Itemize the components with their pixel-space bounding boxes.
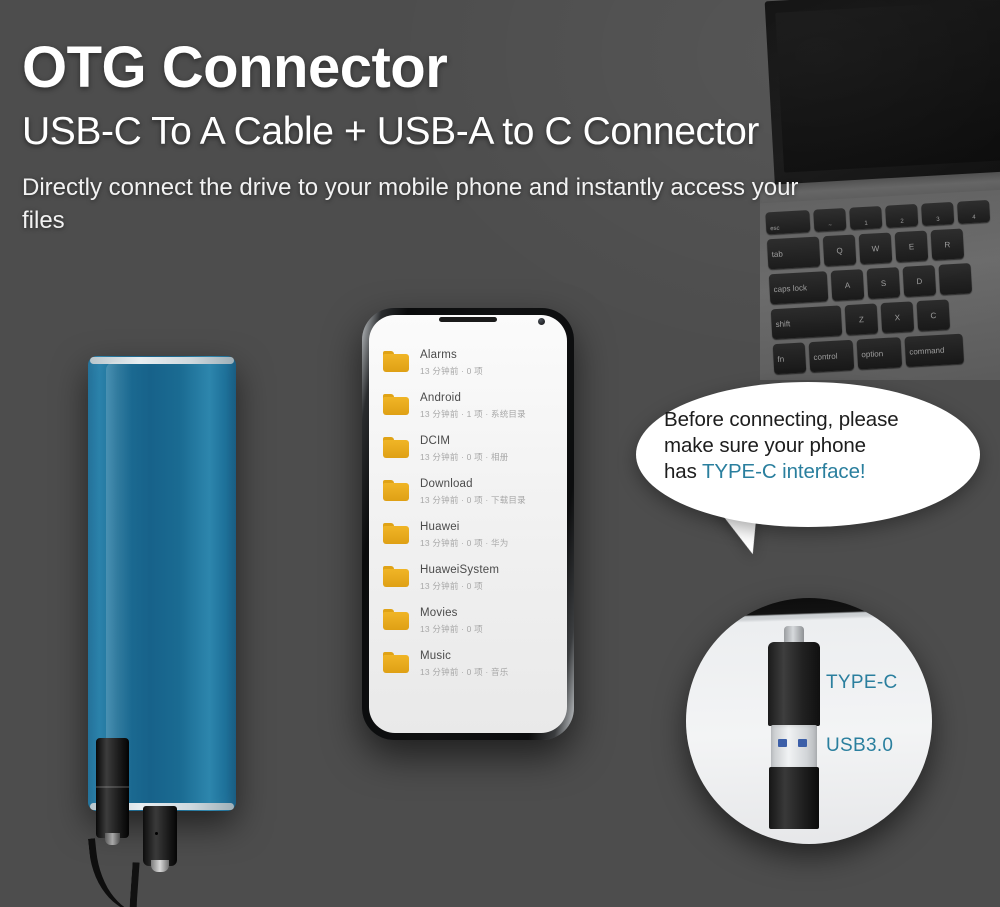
file-meta: 13 分钟前 · 0 项 [420, 580, 499, 592]
phone-screen: Alarms 13 分钟前 · 0 项 Android 13 分钟前 · 1 项… [369, 315, 567, 733]
speech-bubble-body: Before connecting, please make sure your… [636, 382, 980, 527]
bubble-line-1: Before connecting, please [664, 408, 899, 431]
file-meta: 13 分钟前 · 1 项 · 系统目录 [420, 408, 526, 420]
usb-pin [798, 739, 807, 747]
android-smartphone: Alarms 13 分钟前 · 0 项 Android 13 分钟前 · 1 项… [362, 308, 574, 740]
folder-icon [383, 609, 409, 630]
file-meta: 13 分钟前 · 0 项 [420, 623, 483, 635]
bubble-line-2: make sure your phone [664, 434, 866, 457]
key-d: D [903, 265, 937, 297]
adapter-seam [96, 786, 129, 788]
file-name: Movies [420, 606, 483, 620]
earpiece-speaker [439, 317, 497, 322]
page-title: OTG Connector [22, 38, 972, 99]
bubble-line-3-accent: TYPE-C interface! [702, 460, 866, 483]
front-camera-icon [538, 318, 545, 325]
key-w: W [859, 232, 893, 264]
ssd-plug-indicator-dot [155, 832, 158, 835]
product-marketing-image: esc ~ 1 2 3 4 tab Q W E R caps lock A S … [0, 0, 1000, 907]
adapter-lower-body [769, 767, 819, 829]
list-item[interactable]: HuaweiSystem 13 分钟前 · 0 项 [369, 562, 567, 605]
key-s: S [867, 267, 901, 299]
key-tab: tab [767, 237, 821, 270]
list-item[interactable]: Music 13 分钟前 · 0 项 · 音乐 [369, 648, 567, 691]
key-fn: fn [773, 342, 807, 374]
key-z: Z [845, 303, 879, 335]
key-f [939, 263, 973, 295]
key-c: C [917, 299, 951, 331]
file-name: Music [420, 649, 508, 663]
file-meta: 13 分钟前 · 0 项 · 音乐 [420, 666, 508, 678]
file-name: DCIM [420, 434, 508, 448]
file-meta: 13 分钟前 · 0 项 · 华为 [420, 537, 508, 549]
file-name: Download [420, 477, 526, 491]
list-item[interactable]: Android 13 分钟前 · 1 项 · 系统目录 [369, 390, 567, 433]
key-shift: shift [771, 305, 843, 339]
page-subtitle: USB-C To A Cable + USB-A to C Connector [22, 111, 972, 153]
adapter-closeup-inset: TYPE-C USB3.0 [686, 598, 932, 844]
speech-bubble: Before connecting, please make sure your… [636, 382, 980, 527]
phone-adapter-cable [88, 834, 146, 907]
folder-icon [383, 652, 409, 673]
ssd-cable-plug [143, 806, 177, 866]
key-caps-lock: caps lock [769, 271, 829, 304]
key-control: control [809, 340, 855, 372]
label-type-c: TYPE-C [826, 672, 897, 694]
folder-icon [383, 566, 409, 587]
bubble-line-3-prefix: has [664, 460, 702, 483]
file-name: HuaweiSystem [420, 563, 499, 577]
file-name: Huawei [420, 520, 508, 534]
page-description: Directly connect the drive to your mobil… [22, 171, 812, 237]
key-x: X [881, 301, 915, 333]
file-name: Android [420, 391, 526, 405]
list-item[interactable]: Alarms 13 分钟前 · 0 项 [369, 347, 567, 390]
folder-icon [383, 480, 409, 501]
phone-frame: Alarms 13 分钟前 · 0 项 Android 13 分钟前 · 1 项… [362, 308, 574, 740]
key-command: command [904, 334, 964, 367]
folder-icon [383, 394, 409, 415]
file-meta: 13 分钟前 · 0 项 · 下载目录 [420, 494, 526, 506]
folder-icon [383, 437, 409, 458]
list-item[interactable]: DCIM 13 分钟前 · 0 项 · 相册 [369, 433, 567, 476]
file-meta: 13 分钟前 · 0 项 · 相册 [420, 451, 508, 463]
key-a: A [831, 269, 865, 301]
folder-icon [383, 523, 409, 544]
adapter-upper-body [768, 642, 820, 726]
file-name: Alarms [420, 348, 483, 362]
label-usb30: USB3.0 [826, 735, 893, 757]
file-meta: 13 分钟前 · 0 项 [420, 365, 483, 377]
key-q: Q [823, 234, 857, 266]
header-block: OTG Connector USB-C To A Cable + USB-A t… [22, 38, 972, 237]
folder-icon [383, 351, 409, 372]
usb-a-connector [771, 725, 817, 769]
usb-pin [778, 739, 787, 747]
otg-adapter-illustration [768, 626, 820, 826]
key-option: option [857, 337, 903, 369]
list-item[interactable]: Movies 13 分钟前 · 0 项 [369, 605, 567, 648]
speech-bubble-text: Before connecting, please make sure your… [664, 407, 960, 485]
list-item[interactable]: Huawei 13 分钟前 · 0 项 · 华为 [369, 519, 567, 562]
file-manager-list: Alarms 13 分钟前 · 0 项 Android 13 分钟前 · 1 项… [369, 315, 567, 691]
phone-otg-adapter [96, 738, 129, 838]
list-item[interactable]: Download 13 分钟前 · 0 项 · 下载目录 [369, 476, 567, 519]
